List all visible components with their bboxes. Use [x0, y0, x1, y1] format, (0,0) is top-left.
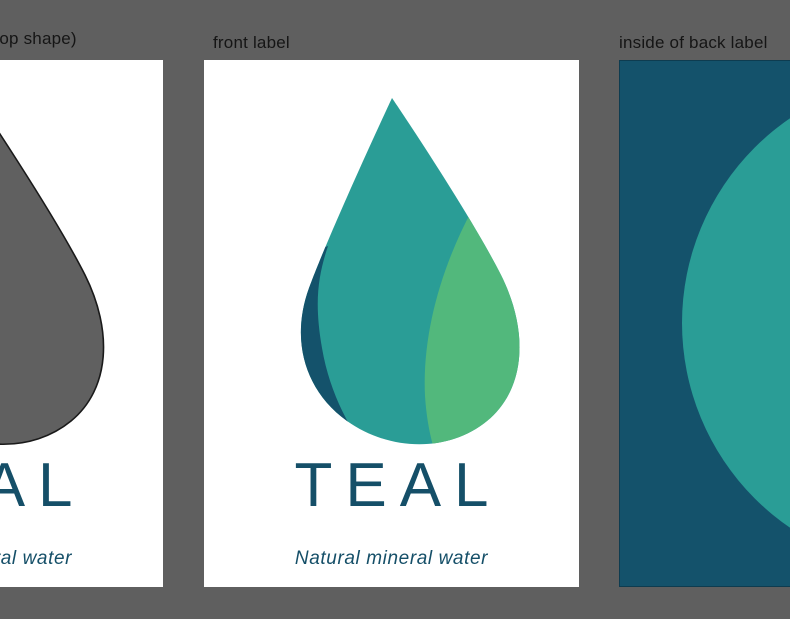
- design-canvas: TEAL Natural mineral water TEAL Natural …: [0, 0, 790, 619]
- droplet-logo-artwork: [204, 60, 579, 587]
- panel-front-label[interactable]: TEAL Natural mineral water: [204, 60, 579, 587]
- caption-front-label: front label: [213, 34, 290, 51]
- panel-drop-shape[interactable]: TEAL Natural mineral water: [0, 60, 163, 587]
- droplet-outline-artwork: [0, 60, 163, 587]
- caption-drop-shape: (drop shape): [0, 30, 77, 47]
- panel-inside-back-label[interactable]: [619, 60, 790, 587]
- caption-inside-back-label: inside of back label: [619, 34, 768, 51]
- circle-overlay-artwork: [620, 61, 790, 587]
